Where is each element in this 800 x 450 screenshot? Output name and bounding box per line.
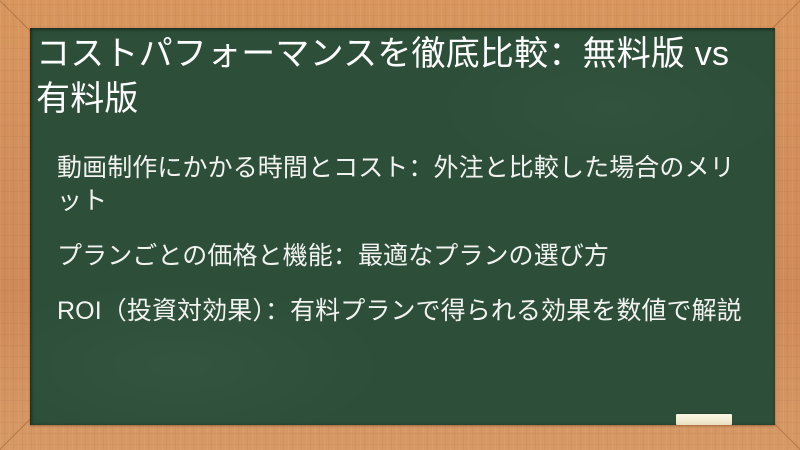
- topic-list-item-2: プランごとの価格と機能：最適なプランの選び方: [57, 240, 745, 273]
- topic-list-item-3: ROI（投資対効果）：有料プランで得られる効果を数値で解説: [57, 295, 745, 328]
- chalkboard-wooden-frame: コストパフォーマンスを徹底比較：無料版 vs 有料版 動画制作にかかる時間とコス…: [0, 0, 800, 450]
- board-title: コストパフォーマンスを徹底比較：無料版 vs 有料版: [36, 32, 742, 122]
- topic-list-item-1: 動画制作にかかる時間とコスト：外注と比較した場合のメリット: [57, 152, 745, 218]
- chalk-stick: [676, 414, 732, 425]
- chalkboard-surface: コストパフォーマンスを徹底比較：無料版 vs 有料版 動画制作にかかる時間とコス…: [30, 28, 775, 425]
- topic-list: 動画制作にかかる時間とコスト：外注と比較した場合のメリット プランごとの価格と機…: [57, 152, 745, 328]
